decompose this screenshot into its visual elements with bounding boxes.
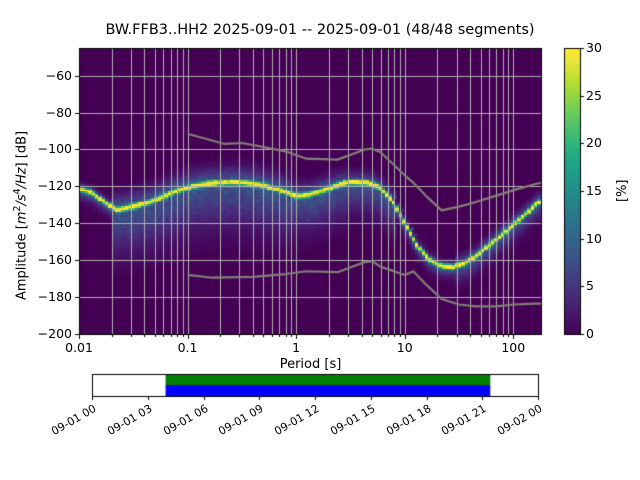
colorbar-tick-30: 30 (586, 40, 602, 55)
x-tick-1: 0.1 (158, 340, 218, 355)
y-tick--80: −80 (0, 105, 72, 120)
y-tick--120: −120 (0, 178, 72, 193)
colorbar-tick-5: 5 (586, 278, 594, 293)
x-tick-3: 10 (375, 340, 435, 355)
x-tick-0: 0.01 (49, 340, 109, 355)
colorbar-tick-10: 10 (586, 231, 602, 246)
colorbar-tick-15: 15 (586, 183, 602, 198)
y-tick--200: −200 (0, 326, 72, 341)
colorbar-tick-25: 25 (586, 88, 602, 103)
colorbar-tick-0: 0 (586, 326, 594, 341)
colorbar-tick-20: 20 (586, 135, 602, 150)
x-tick-4: 100 (483, 340, 543, 355)
y-tick--60: −60 (0, 68, 72, 83)
y-tick--160: −160 (0, 252, 72, 267)
y-tick--140: −140 (0, 215, 72, 230)
y-tick--180: −180 (0, 289, 72, 304)
x-tick-2: 1 (266, 340, 326, 355)
y-tick--100: −100 (0, 141, 72, 156)
